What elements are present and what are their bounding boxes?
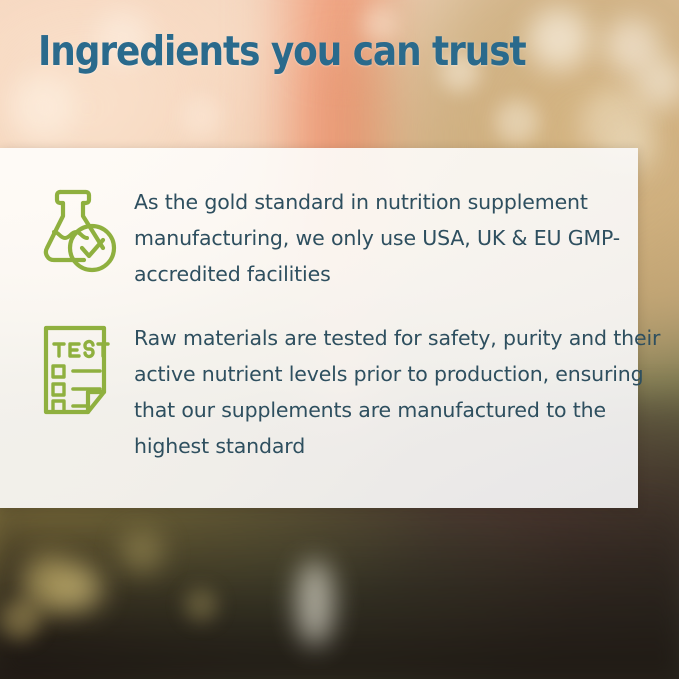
list-item: As the gold standard in nutrition supple…	[0, 184, 679, 292]
test-document-icon	[40, 320, 134, 418]
list-item-text: As the gold standard in nutrition supple…	[134, 184, 671, 292]
page-title: Ingredients you can trust	[38, 27, 526, 75]
flask-check-icon	[40, 184, 134, 276]
bokeh-disc	[120, 530, 164, 574]
list-item: Raw materials are tested for safety, pur…	[0, 320, 679, 464]
promo-banner: Ingredients you can trust As the gold st	[0, 0, 679, 679]
bokeh-disc	[184, 588, 218, 622]
bokeh-disc	[296, 560, 334, 646]
list-item-text: Raw materials are tested for safety, pur…	[134, 320, 671, 464]
bokeh-disc	[0, 600, 40, 640]
list-item-body: Raw materials are tested for safety, pur…	[134, 320, 679, 464]
bokeh-disc	[58, 566, 104, 612]
benefit-list: As the gold standard in nutrition supple…	[0, 148, 679, 464]
bokeh-disc	[10, 74, 76, 140]
list-item-body: As the gold standard in nutrition supple…	[134, 184, 679, 292]
bokeh-disc	[636, 58, 679, 108]
bokeh-disc	[180, 96, 222, 138]
bokeh-disc	[528, 8, 590, 70]
bokeh-disc	[495, 100, 539, 144]
